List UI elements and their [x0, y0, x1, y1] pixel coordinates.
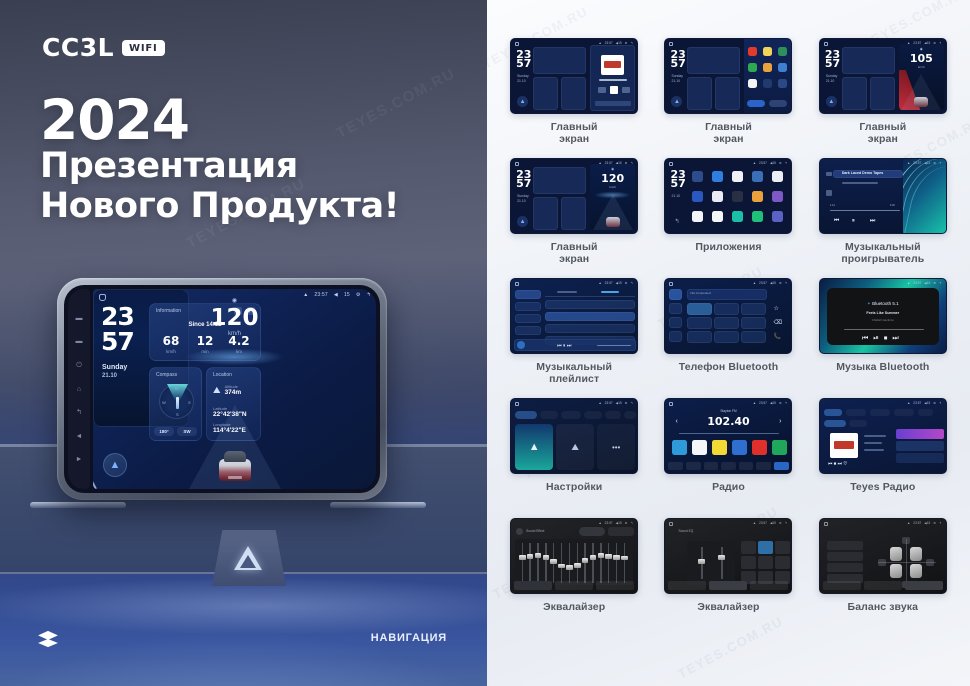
thumbnail-teyes-radio[interactable]: ▲23:57◀15⚙↰ ⏮ ⏹ ⏭ ♡	[819, 398, 947, 474]
thumbnail-label: Телефон Bluetooth	[679, 361, 779, 373]
thumbnail-label: Музыкальныйпроигрыватель	[841, 241, 924, 265]
eq-band-knob[interactable]	[621, 556, 628, 561]
thumbnail-home-media[interactable]: ▲23:57◀15⚙↰ 2357 Sunday21.10 ▲	[510, 38, 638, 114]
grid-item[interactable]: ▲23:57◀15⚙↰ ⏮ ⏹ ⏭ ♡	[810, 398, 956, 518]
compass-mark-w: W	[162, 400, 166, 405]
clock-date: 21.10	[102, 373, 117, 379]
eq-band-slider[interactable]	[522, 543, 523, 583]
head-unit-bezel: ▬ ▬ ⏻ ⌂ ↰ ◄ ► ▲ 23:57 ◀ 15 ⚙	[57, 278, 387, 500]
radio-frequency: 102.40	[665, 415, 791, 428]
eq-band-slider[interactable]	[584, 543, 585, 583]
altitude-value: 374m	[225, 389, 242, 396]
speed-gauge-icon: ◉	[93, 297, 189, 304]
thumbnail-home-drive-red[interactable]: ▲23:57◀15⚙↰ 2357 Sunday21.10 ▲ ◉ 105 km/…	[819, 38, 947, 114]
compass-heading[interactable]: 180°	[154, 427, 174, 436]
eq-band-knob[interactable]	[598, 553, 605, 558]
thumbnail-bluetooth-music[interactable]: ▲23:57◀15⚙↰ ✦ Bluetooth 5.1 Feels Like S…	[819, 278, 947, 354]
layers-logo-icon	[37, 630, 59, 648]
compass-mark-s: S	[176, 412, 179, 417]
radio-band: Stayton FM	[665, 409, 791, 413]
grid-item[interactable]: ▲23:57◀15⚙↰ Sound Effect Эквалайзер	[501, 518, 647, 638]
back-icon[interactable]: ↰	[75, 408, 84, 417]
grid-item[interactable]: ▲23:57◀15⚙↰ 2357 Sunday21.10 ▲	[655, 38, 801, 158]
head-unit-side-buttons[interactable]: ▬ ▬ ⏻ ⌂ ↰ ◄ ►	[68, 289, 90, 489]
bt-track: Feels Like Summer	[820, 311, 946, 315]
hero-headline-line1: Презентация	[40, 146, 298, 186]
thumbnail-label: Эквалайзер	[543, 601, 605, 613]
bt-device: Bluetooth 5.1	[872, 301, 899, 306]
eq-band-knob[interactable]	[535, 553, 542, 558]
eq-band-slider[interactable]	[608, 543, 609, 583]
grid-item[interactable]: ▲23:57◀15⚙↰ 2357 21.10 ↰	[655, 158, 801, 278]
speed-unit: km/h	[93, 331, 189, 337]
grid-item[interactable]: ▲23:57◀15⚙↰ Dark Laced Demo Tapes 1:14 3…	[810, 158, 956, 278]
home-icon[interactable]: ⌂	[75, 385, 84, 394]
thumbnail-label: Эквалайзер	[697, 601, 759, 613]
product-logo: CC3L WIFI	[42, 33, 165, 62]
eq-band-slider[interactable]	[577, 543, 578, 583]
grid-item[interactable]: ▲23:57◀15⚙↰ ✦ Bluetooth 5.1 Feels Like S…	[810, 278, 956, 398]
thumbnail-label: Главныйэкран	[551, 241, 598, 265]
screenshot-grid-panel: TEYES.COM.RU TEYES.COM.RU TEYES.COM.RU T…	[487, 0, 970, 686]
thumbnail-label: Радио	[712, 481, 745, 493]
thumbnail-label: Настройки	[546, 481, 602, 493]
thumbnail-label: Teyes Радио	[850, 481, 915, 493]
compass-mark-n: N	[175, 386, 178, 391]
grid-item[interactable]: ▲23:57◀15⚙↰ Not Connected	[655, 278, 801, 398]
thumbnail-home-apps[interactable]: ▲23:57◀15⚙↰ 2357 Sunday21.10 ▲	[664, 38, 792, 114]
thumbnail-label: Главныйэкран	[705, 121, 752, 145]
grid-item[interactable]: ▲23:57◀15⚙↰ 2357 Sunday21.10 ▲ ◉ 105 km/…	[810, 38, 956, 158]
volume-up-icon[interactable]: ▬	[75, 314, 84, 323]
thumb-speed-value: 120	[590, 172, 635, 185]
volume-down-icon[interactable]: ▬	[75, 337, 84, 346]
presentation-slide: TEYES.COM.RU TEYES.COM.RU TEYES.COM.RU T…	[0, 0, 970, 686]
eq-band-slider[interactable]	[624, 543, 625, 583]
thumbnail-bluetooth-phone[interactable]: ▲23:57◀15⚙↰ Not Connected	[664, 278, 792, 354]
eq-band-slider[interactable]	[569, 543, 570, 583]
power-icon[interactable]: ⏻	[75, 361, 84, 370]
eq-band-knob[interactable]	[566, 565, 573, 570]
thumbnail-music-playlist[interactable]: ▲23:57◀15⚙↰ ⏮ ⏸ ⏭	[510, 278, 638, 354]
thumbnail-music-player[interactable]: ▲23:57◀15⚙↰ Dark Laced Demo Tapes 1:14 3…	[819, 158, 947, 234]
eq-band-knob[interactable]	[574, 563, 581, 568]
thumbnail-label: Главныйэкран	[551, 121, 598, 145]
grid-item[interactable]: ▲23:57◀15⚙↰ ▲ ⛰ ••• Настройки	[501, 398, 647, 518]
eq-band-knob[interactable]	[613, 555, 620, 560]
navigation-footer-label: НАВИГАЦИЯ	[371, 632, 447, 644]
eq-band-knob[interactable]	[590, 555, 597, 560]
eq-band-knob[interactable]	[582, 558, 589, 563]
prev-track-icon[interactable]: ◄	[75, 432, 84, 441]
thumbnail-label: Баланс звука	[848, 601, 919, 613]
grid-item[interactable]: ▲23:57◀15⚙↰	[810, 518, 956, 638]
grid-item[interactable]: ▲23:57◀15⚙↰ Stayton FM 102.40 ‹ ›	[655, 398, 801, 518]
eq-band-slider[interactable]	[561, 543, 562, 583]
wifi-badge: WIFI	[122, 40, 165, 56]
grid-item[interactable]: ▲23:57◀15⚙↰ Sound EQ	[655, 518, 801, 638]
thumbnail-label: Приложения	[695, 241, 761, 253]
mountain-icon: ⛰	[213, 386, 221, 395]
grid-item[interactable]: ▲23:57◀15⚙↰ 2357 Sunday21.10 ▲ ◉ 120 km/…	[501, 158, 647, 278]
eq-band-slider[interactable]	[545, 543, 546, 583]
thumb-speed-value: 105	[899, 52, 944, 65]
thumbnail-grid: ▲23:57◀15⚙↰ 2357 Sunday21.10 ▲	[501, 38, 956, 638]
eq-band-knob[interactable]	[605, 554, 612, 559]
thumbnail-apps[interactable]: ▲23:57◀15⚙↰ 2357 21.10 ↰	[664, 158, 792, 234]
hero-panel: TEYES.COM.RU TEYES.COM.RU TEYES.COM.RU T…	[0, 0, 487, 686]
track-title: Dark Laced Demo Tapes	[842, 171, 883, 175]
eq-band-slider[interactable]	[529, 543, 530, 583]
thumbnail-label: Музыка Bluetooth	[836, 361, 929, 373]
hazard-triangle-icon[interactable]	[234, 546, 262, 570]
compass-title: Compass	[156, 372, 177, 378]
hero-year: 2024	[40, 88, 189, 152]
thumbnail-equalizer-simple[interactable]: ▲23:57◀15⚙↰ Sound EQ	[664, 518, 792, 594]
thumbnail-home-drive-blue[interactable]: ▲23:57◀15⚙↰ 2357 Sunday21.10 ▲ ◉ 120 km/…	[510, 158, 638, 234]
logo-text: CC3L	[42, 33, 114, 62]
eq-band-slider[interactable]	[592, 543, 593, 583]
grid-item[interactable]: ▲23:57◀15⚙↰ 2357 Sunday21.10 ▲	[501, 38, 647, 158]
eq-band-knob[interactable]	[543, 555, 550, 560]
eq-band-slider[interactable]	[537, 543, 538, 583]
thumbnail-label: Музыкальныйплейлист	[536, 361, 612, 385]
next-track-icon[interactable]: ►	[75, 455, 84, 464]
eq-band-knob[interactable]	[519, 555, 526, 560]
thumbnail-settings[interactable]: ▲23:57◀15⚙↰ ▲ ⛰ •••	[510, 398, 638, 474]
eq-band-knob[interactable]	[550, 559, 557, 564]
head-unit-screen[interactable]: ▲ 23:57 ◀ 15 ⚙ ↰ 23 57 Sunday 21.10 ▲ In…	[93, 289, 376, 489]
eq-band-slider[interactable]	[616, 543, 617, 583]
thumbnail-radio[interactable]: ▲23:57◀15⚙↰ Stayton FM 102.40 ‹ ›	[664, 398, 792, 474]
grid-item[interactable]: ▲23:57◀15⚙↰ ⏮ ⏸ ⏭	[501, 278, 647, 398]
location-title: Location	[213, 372, 232, 378]
eq-band-slider[interactable]	[553, 543, 554, 583]
thumbnail-equalizer-bands[interactable]: ▲23:57◀15⚙↰ Sound Effect	[510, 518, 638, 594]
eq-band-knob[interactable]	[558, 564, 565, 569]
speed-value: 120	[93, 305, 189, 331]
eq-band-knob[interactable]	[527, 554, 534, 559]
eq-band-slider[interactable]	[600, 543, 601, 583]
watermark: TEYES.COM.RU	[334, 65, 459, 142]
thumbnail-label: Главныйэкран	[859, 121, 906, 145]
navigation-fab-button[interactable]: ▲	[103, 453, 127, 477]
thumbnail-sound-balance[interactable]: ▲23:57◀15⚙↰	[819, 518, 947, 594]
hero-headline-line2: Нового Продукта!	[40, 186, 399, 226]
